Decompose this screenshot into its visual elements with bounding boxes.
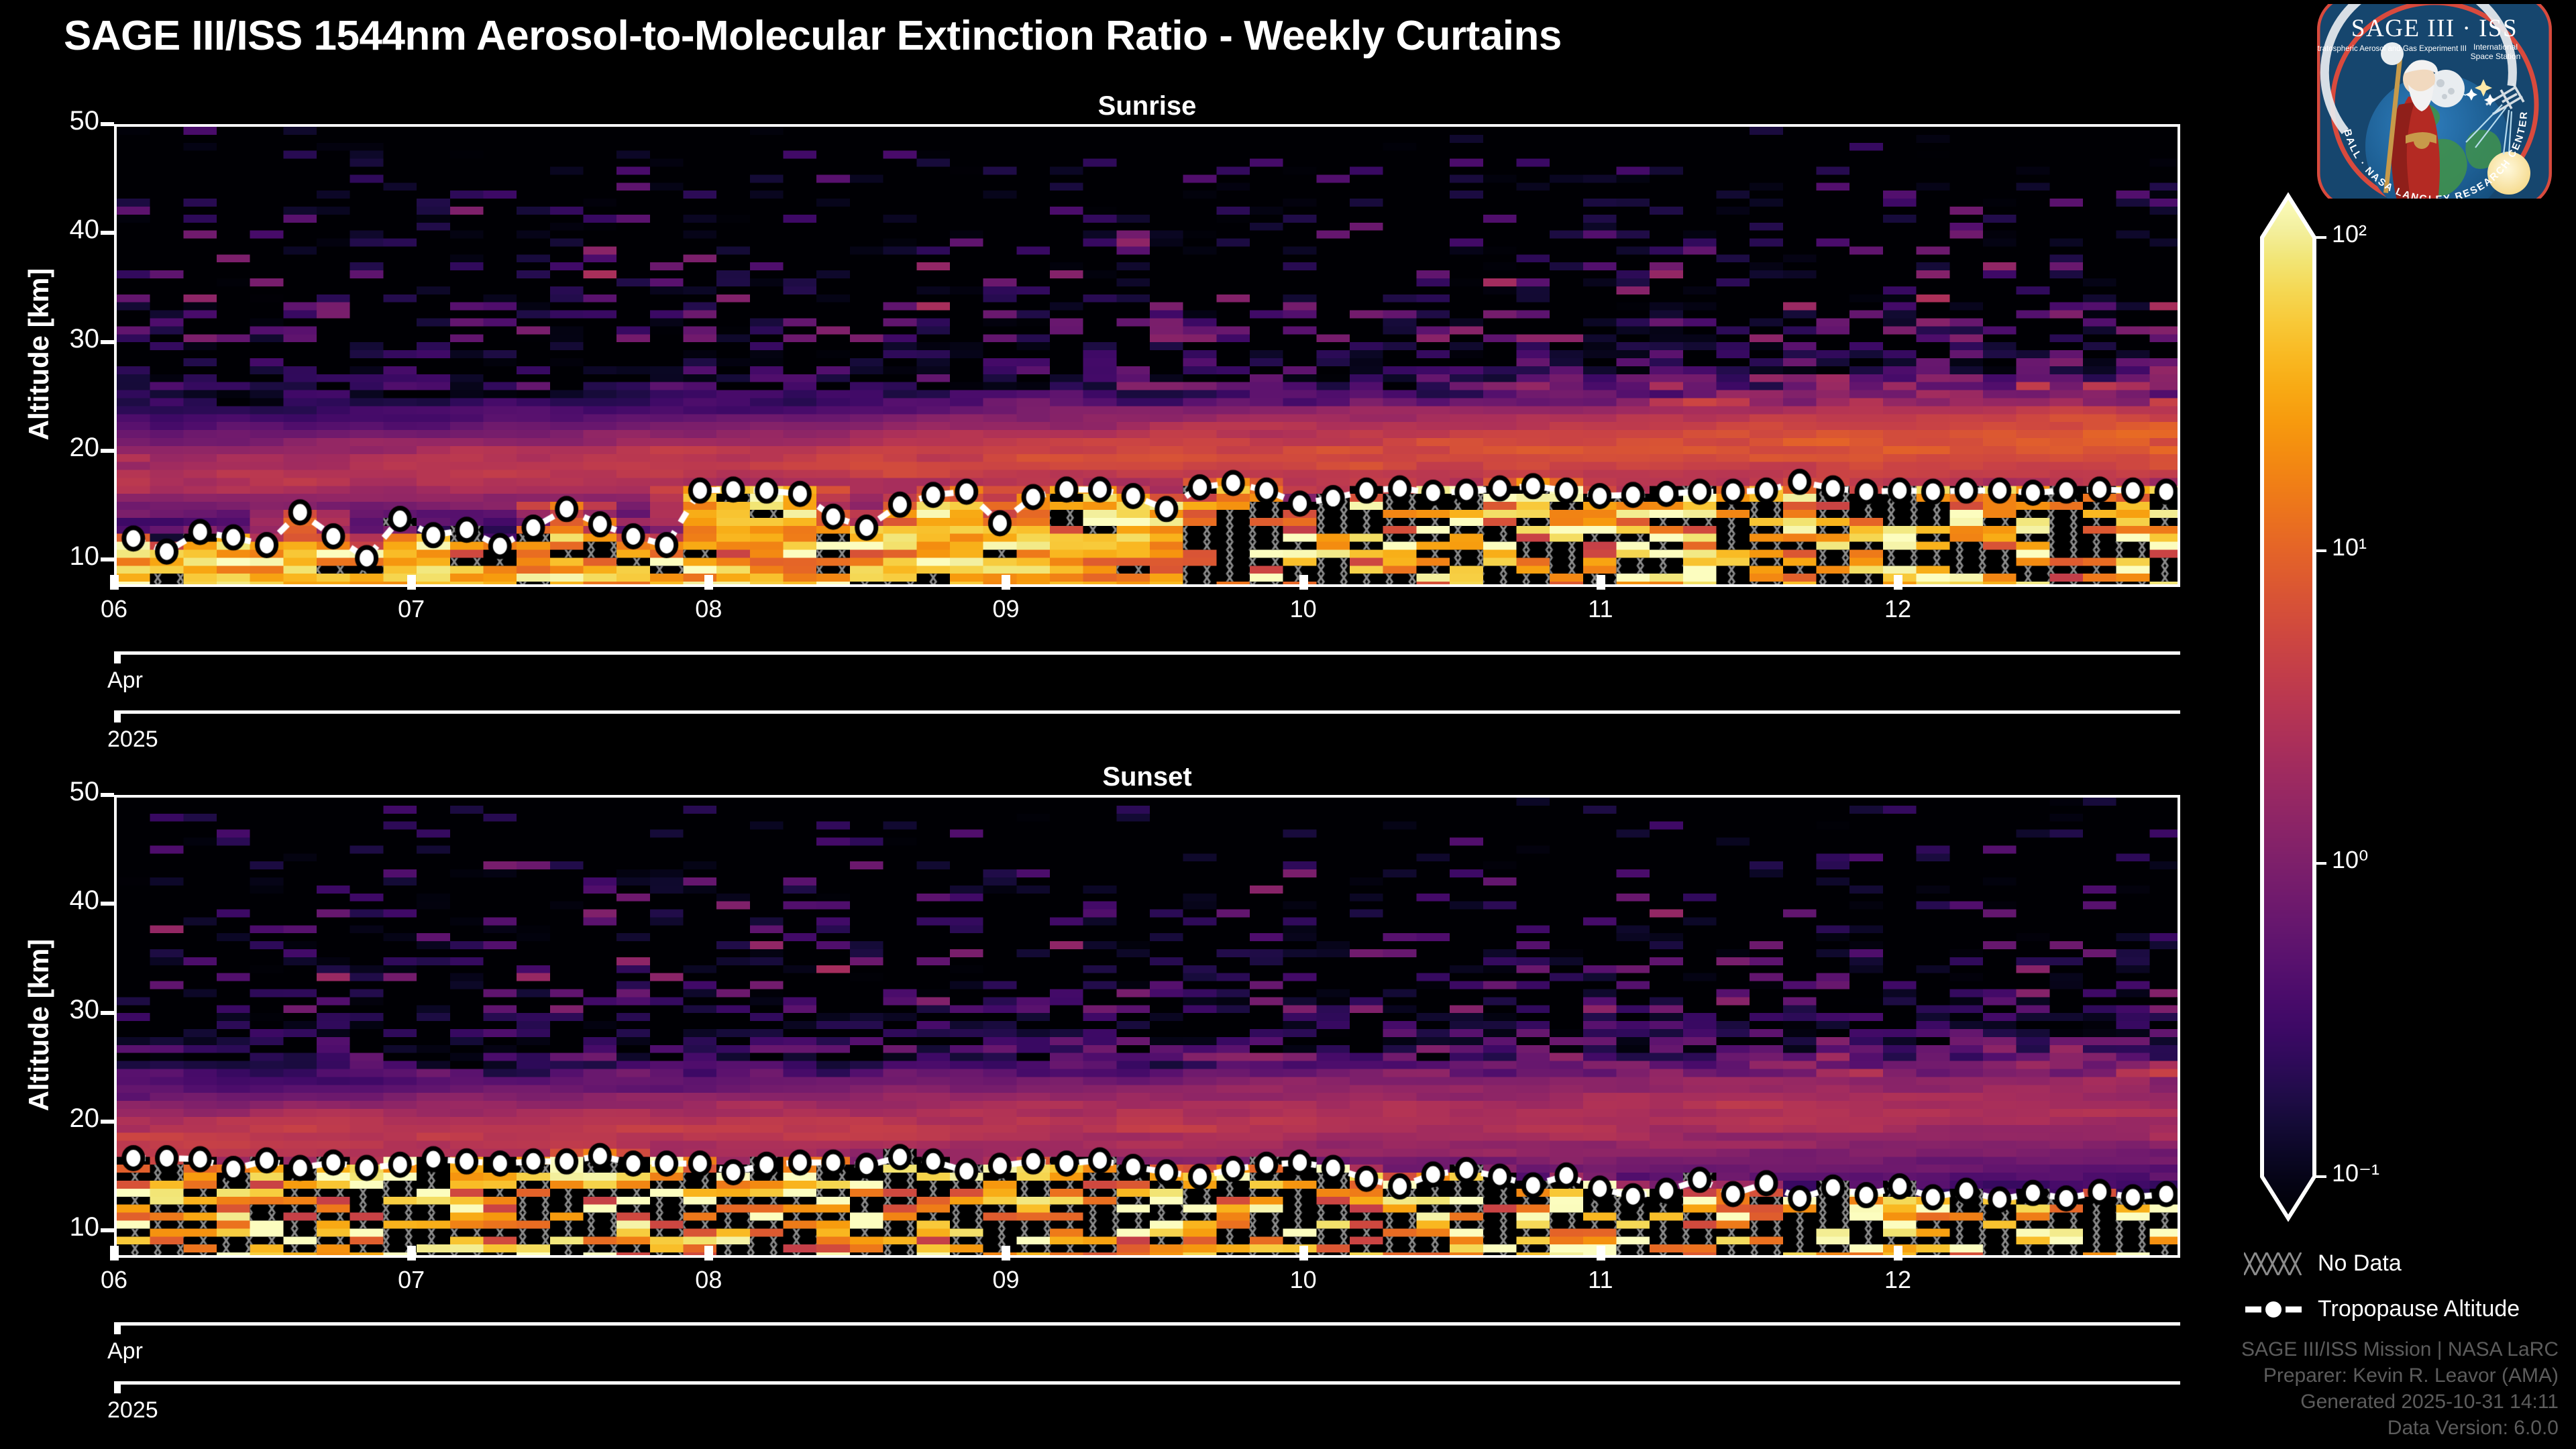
colorbar-tick-label: 10¹ [2332,533,2367,561]
x-tick-label-week: 07 [364,595,458,623]
year-axis-tick [114,1381,121,1393]
colorbar-tick-label: 10⁻¹ [2332,1159,2379,1187]
month-axis-rule [114,1322,2180,1326]
year-axis-label: 2025 [107,1397,158,1424]
x-tick-mark [1299,1246,1308,1260]
year-axis-tick [114,710,121,722]
legend-label-tropopause: Tropopause Altitude [2318,1296,2520,1322]
y-tick-label: 40 [25,885,99,916]
y-tick-label: 40 [25,215,99,245]
y-tick-mark [101,557,114,561]
month-axis-tick [114,1322,121,1334]
x-tick-label-week: 11 [1554,1266,1648,1294]
y-tick-mark [101,340,114,344]
footer-preparer: Preparer: Kevin R. Leavor (AMA) [2241,1362,2559,1389]
colorbar-tick-mark [2316,1175,2326,1178]
y-tick-label: 20 [25,433,99,463]
x-tick-mark [704,575,713,590]
colorbar-tick-mark [2316,549,2326,552]
y-tick-label: 50 [25,777,99,807]
y-tick-mark [101,1011,114,1015]
hatch-swatch-icon [2244,1252,2303,1275]
y-tick-label: 20 [25,1104,99,1134]
footer-generated: Generated 2025-10-31 14:11 [2241,1389,2559,1415]
month-axis-label: Apr [107,667,143,694]
colorbar-tick-label: 10⁰ [2332,846,2368,874]
x-tick-mark [407,1246,416,1260]
x-tick-label-week: 08 [661,595,755,623]
x-tick-label-week: 06 [67,595,161,623]
y-tick-mark [101,902,114,906]
x-tick-label-week: 12 [1851,1266,1945,1294]
x-tick-label-week: 06 [67,1266,161,1294]
footer-mission: SAGE III/ISS Mission | NASA LaRC [2241,1336,2559,1362]
y-tick-mark [101,122,114,126]
y-tick-mark [101,231,114,235]
footer-credits: SAGE III/ISS Mission | NASA LaRC Prepare… [2241,1336,2559,1441]
y-tick-label: 50 [25,106,99,136]
x-tick-mark [1299,575,1308,590]
colorbar-tick-mark [2316,236,2326,239]
year-axis-rule [114,710,2180,714]
month-axis-rule [114,651,2180,655]
x-tick-mark [407,575,416,590]
colorbar-outline [0,0,2576,1449]
footer-data-version: Data Version: 6.0.0 [2241,1415,2559,1441]
tropopause-marker-icon [2244,1298,2303,1321]
colorbar-tick-label: 10² [2332,220,2367,248]
x-tick-label-week: 10 [1256,595,1350,623]
y-tick-mark [101,793,114,797]
x-tick-mark [704,1246,713,1260]
legend-item-no-data: No Data [2244,1250,2402,1277]
year-axis-label: 2025 [107,727,158,753]
y-tick-mark [101,1228,114,1232]
x-tick-mark [1597,1246,1605,1260]
month-axis-tick [114,651,121,663]
month-axis-label: Apr [107,1338,143,1364]
colorbar-tick-mark [2316,862,2326,865]
legend-label-no-data: No Data [2318,1250,2402,1277]
x-tick-label-week: 12 [1851,595,1945,623]
y-tick-label: 30 [25,995,99,1025]
x-tick-mark [1894,1246,1902,1260]
y-tick-label: 10 [25,1212,99,1242]
y-tick-label: 30 [25,324,99,354]
x-tick-label-week: 09 [959,1266,1053,1294]
x-tick-mark [110,1246,119,1260]
y-tick-mark [101,449,114,453]
x-tick-label-week: 11 [1554,595,1648,623]
x-tick-mark [1597,575,1605,590]
x-tick-mark [1002,1246,1010,1260]
x-tick-label-week: 10 [1256,1266,1350,1294]
x-tick-label-week: 09 [959,595,1053,623]
x-tick-mark [1894,575,1902,590]
y-tick-label: 10 [25,541,99,572]
year-axis-rule [114,1381,2180,1385]
y-tick-mark [101,1120,114,1124]
legend-item-tropopause: Tropopause Altitude [2244,1296,2520,1322]
x-tick-label-week: 07 [364,1266,458,1294]
x-tick-mark [1002,575,1010,590]
x-tick-mark [110,575,119,590]
x-tick-label-week: 08 [661,1266,755,1294]
